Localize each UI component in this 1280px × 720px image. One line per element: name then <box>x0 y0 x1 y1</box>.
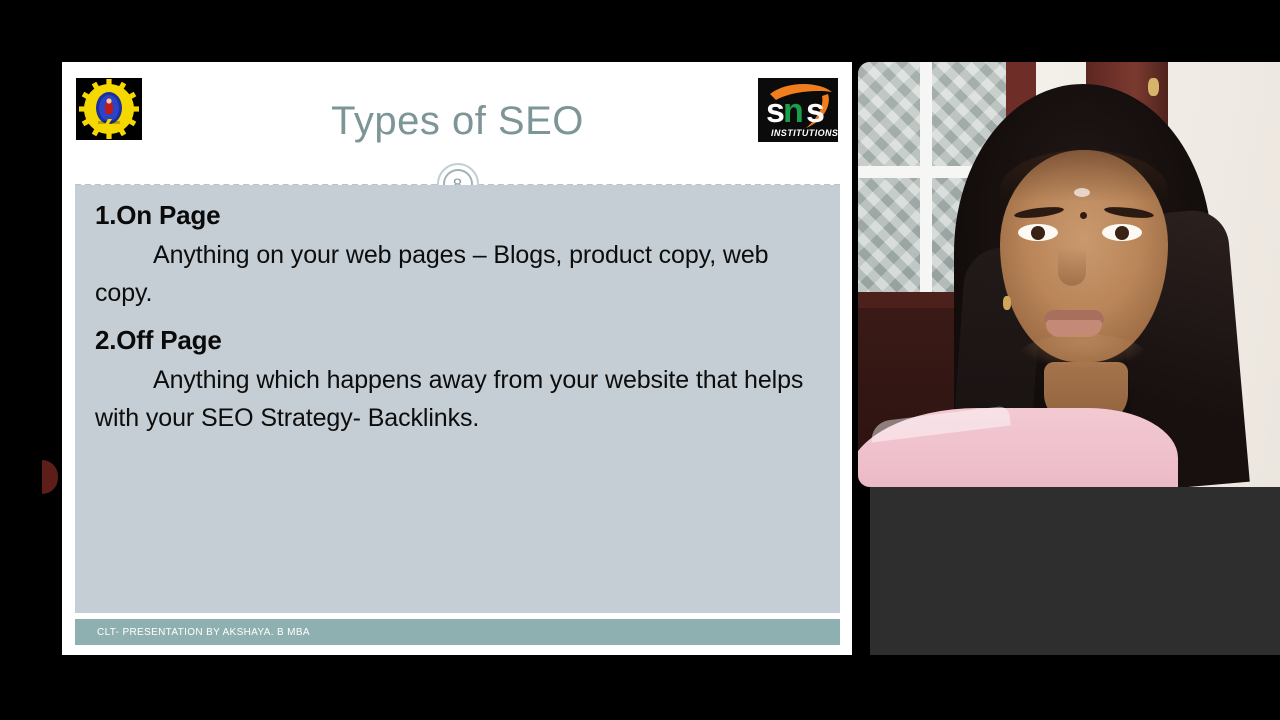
slide-footer-text: CLT- PRESENTATION BY AKSHAYA. B MBA <box>75 627 310 638</box>
bullet-body-off-page: Anything which happens away from your we… <box>95 361 822 437</box>
slide-panel[interactable]: Types of SEO s n s INSTITUTIONS <box>62 62 852 655</box>
slide-footer: CLT- PRESENTATION BY AKSHAYA. B MBA <box>75 619 840 645</box>
presenter-eye-right <box>1102 224 1142 241</box>
presenter-eye-left <box>1018 224 1058 241</box>
slide-body: 1.On Page Anything on your web pages – B… <box>75 185 840 613</box>
presentation-stage: Types of SEO s n s INSTITUTIONS <box>0 0 1280 720</box>
slide-header: Types of SEO s n s INSTITUTIONS <box>75 73 840 175</box>
slide-content-area: Types of SEO s n s INSTITUTIONS <box>75 73 840 645</box>
presenter-forehead-mark <box>1074 188 1090 197</box>
left-edge-pointer-artifact <box>42 460 58 494</box>
bullet-heading-off-page: 2.Off Page <box>95 322 822 358</box>
presenter-earring <box>1003 296 1011 310</box>
video-lower-empty-panel <box>870 487 1280 655</box>
bullet-heading-on-page: 1.On Page <box>95 197 822 233</box>
bullet-body-on-page: Anything on your web pages – Blogs, prod… <box>95 236 822 312</box>
webcam-video-frame <box>858 62 1280 487</box>
svg-text:INSTITUTIONS: INSTITUTIONS <box>771 128 838 138</box>
sns-institutions-logo: s n s INSTITUTIONS <box>758 78 838 142</box>
presenter-bindi <box>1080 212 1087 219</box>
presenter-chin <box>1018 334 1148 380</box>
slide-title: Types of SEO <box>75 97 840 145</box>
presenter-nose <box>1058 248 1086 286</box>
svg-text:n: n <box>783 92 804 130</box>
svg-text:s: s <box>806 92 825 130</box>
door-knob <box>1148 78 1159 96</box>
webcam-video-panel[interactable] <box>858 62 1280 487</box>
